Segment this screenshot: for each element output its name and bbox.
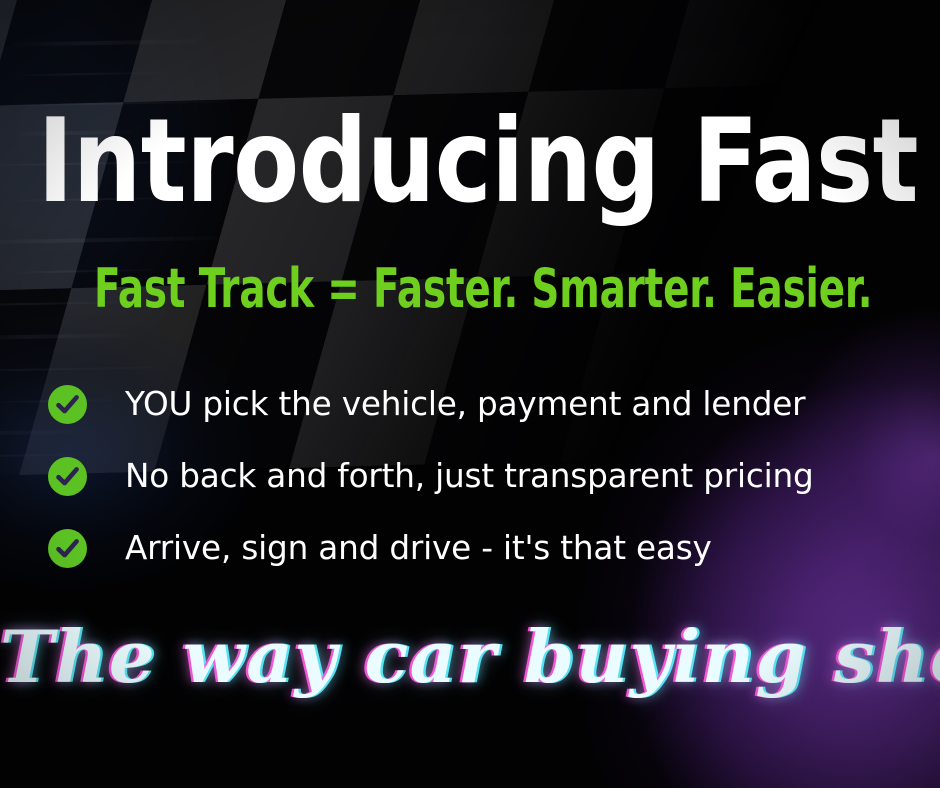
benefits-list: YOU pick the vehicle, payment and lender… [48,376,908,592]
list-item-label: No back and forth, just transparent pric… [125,459,814,494]
subtitle: Fast Track = Faster. Smarter. Easier. [94,262,846,316]
list-item: No back and forth, just transparent pric… [48,448,908,504]
script-tagline: The way car buying should be. [0,612,940,702]
tagline-container: The way car buying should be. [0,612,940,722]
list-item: Arrive, sign and drive - it's that easy [48,520,908,576]
check-circle-icon [48,529,87,568]
list-item: YOU pick the vehicle, payment and lender [48,376,908,432]
page-title: Introducing Fast Track [38,104,903,220]
check-circle-icon [48,457,87,496]
list-item-label: Arrive, sign and drive - it's that easy [125,531,712,566]
check-circle-icon [48,385,87,424]
fast-track-promo-poster: Introducing Fast Track Fast Track = Fast… [0,0,940,788]
poster-content: Introducing Fast Track Fast Track = Fast… [0,0,940,788]
list-item-label: YOU pick the vehicle, payment and lender [125,387,805,422]
